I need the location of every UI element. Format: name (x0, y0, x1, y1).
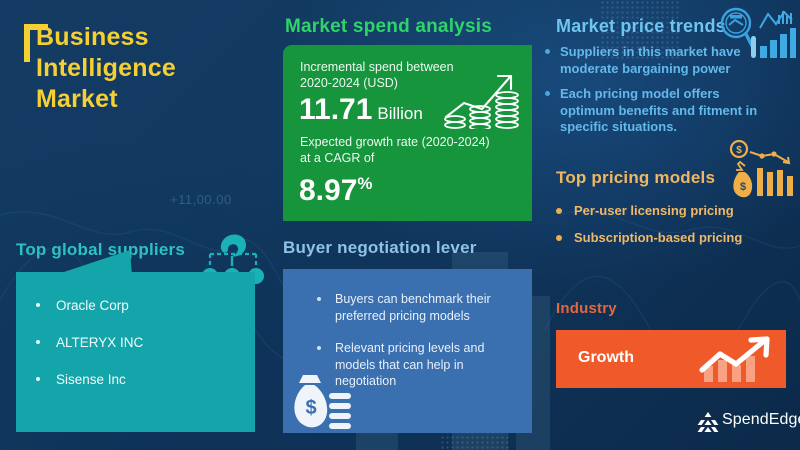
bullet-dot-icon (545, 49, 550, 54)
cagr-unit: % (357, 174, 372, 193)
top-global-suppliers-list: Oracle Corp ALTERYX INC Sisense Inc (32, 298, 242, 409)
list-item: Each pricing model offers optimum benefi… (545, 86, 760, 136)
money-bag-declining-chart-icon: $ $ (728, 140, 796, 200)
top-pricing-models-list: Per-user licensing pricing Subscription-… (556, 203, 751, 256)
title-line-1: Business (36, 22, 272, 53)
bullet-dot-icon (36, 340, 40, 344)
list-item-text: Sisense Inc (56, 372, 126, 387)
title-line-3: Market (36, 84, 272, 115)
top-global-suppliers-panel: Oracle Corp ALTERYX INC Sisense Inc (16, 272, 255, 432)
cagr-label: Expected growth rate (2020-2024) at a CA… (300, 134, 495, 166)
list-item-text: Each pricing model offers optimum benefi… (560, 86, 757, 134)
list-item-text: Relevant pricing levels and models that … (335, 341, 484, 388)
bullet-dot-icon (556, 208, 562, 214)
list-item: Subscription-based pricing (556, 230, 751, 247)
svg-text:$: $ (740, 181, 746, 193)
list-item: Suppliers in this market have moderate b… (545, 44, 760, 77)
background-ticker-text: +11,00.00 (170, 192, 232, 207)
list-item-text: Suppliers in this market have moderate b… (560, 44, 741, 76)
title-block: Business Intelligence Market (22, 22, 272, 115)
bullet-dot-icon (36, 303, 40, 307)
incremental-spend-unit: Billion (377, 104, 422, 123)
coins-growth-arrow-icon (442, 67, 520, 129)
top-pricing-models-heading: Top pricing models (556, 168, 715, 188)
bullet-dot-icon (545, 91, 550, 96)
cagr-value: 8.97% (299, 169, 373, 206)
incremental-spend-value: 11.71Billion (299, 95, 423, 129)
svg-text:$: $ (736, 145, 742, 156)
list-item-text: Buyers can benchmark their preferred pri… (335, 292, 491, 323)
money-bag-list-icon: $ (285, 369, 353, 431)
list-item: ALTERYX INC (32, 335, 242, 351)
logo-name: SpendEdge (722, 411, 800, 428)
infographic-canvas: +11,00.00 Business Intelligence Market M… (0, 0, 800, 450)
industry-heading: Industry (556, 300, 617, 317)
market-price-trends-heading: Market price trends (556, 16, 726, 37)
incremental-spend-number: 11.71 (299, 93, 372, 126)
cagr-number: 8.97 (299, 174, 357, 207)
spendedge-logo: SpendEdge™ (697, 409, 789, 437)
page-title: Business Intelligence Market (36, 22, 272, 115)
list-item-text: Per-user licensing pricing (574, 203, 734, 218)
bullet-dot-icon (36, 377, 40, 381)
bullet-dot-icon (556, 235, 562, 241)
buyer-negotiation-lever-heading: Buyer negotiation lever (283, 238, 477, 258)
list-item: Sisense Inc (32, 372, 242, 388)
list-item-text: ALTERYX INC (56, 335, 143, 350)
list-item: Buyers can benchmark their preferred pri… (313, 291, 521, 324)
title-line-2: Intelligence (36, 53, 272, 84)
list-item: Oracle Corp (32, 298, 242, 314)
industry-status-value: Growth (578, 349, 634, 367)
industry-status-banner: Growth (556, 330, 786, 388)
list-item: Per-user licensing pricing (556, 203, 751, 220)
buyer-negotiation-lever-panel: Buyers can benchmark their preferred pri… (283, 269, 532, 433)
list-item-text: Subscription-based pricing (574, 230, 742, 245)
market-spend-panel: Incremental spend between 2020-2024 (USD… (283, 45, 532, 221)
spendedge-chevron-mark-icon (697, 411, 719, 433)
bullet-dot-icon (317, 346, 321, 350)
bullet-dot-icon (317, 297, 321, 301)
market-price-trends-list: Suppliers in this market have moderate b… (545, 44, 760, 145)
market-spend-heading: Market spend analysis (285, 16, 492, 38)
growth-arrow-bars-icon (698, 336, 776, 383)
svg-text:$: $ (305, 397, 316, 419)
spendedge-logo-text: SpendEdge™ (722, 411, 800, 429)
list-item-text: Oracle Corp (56, 298, 129, 313)
